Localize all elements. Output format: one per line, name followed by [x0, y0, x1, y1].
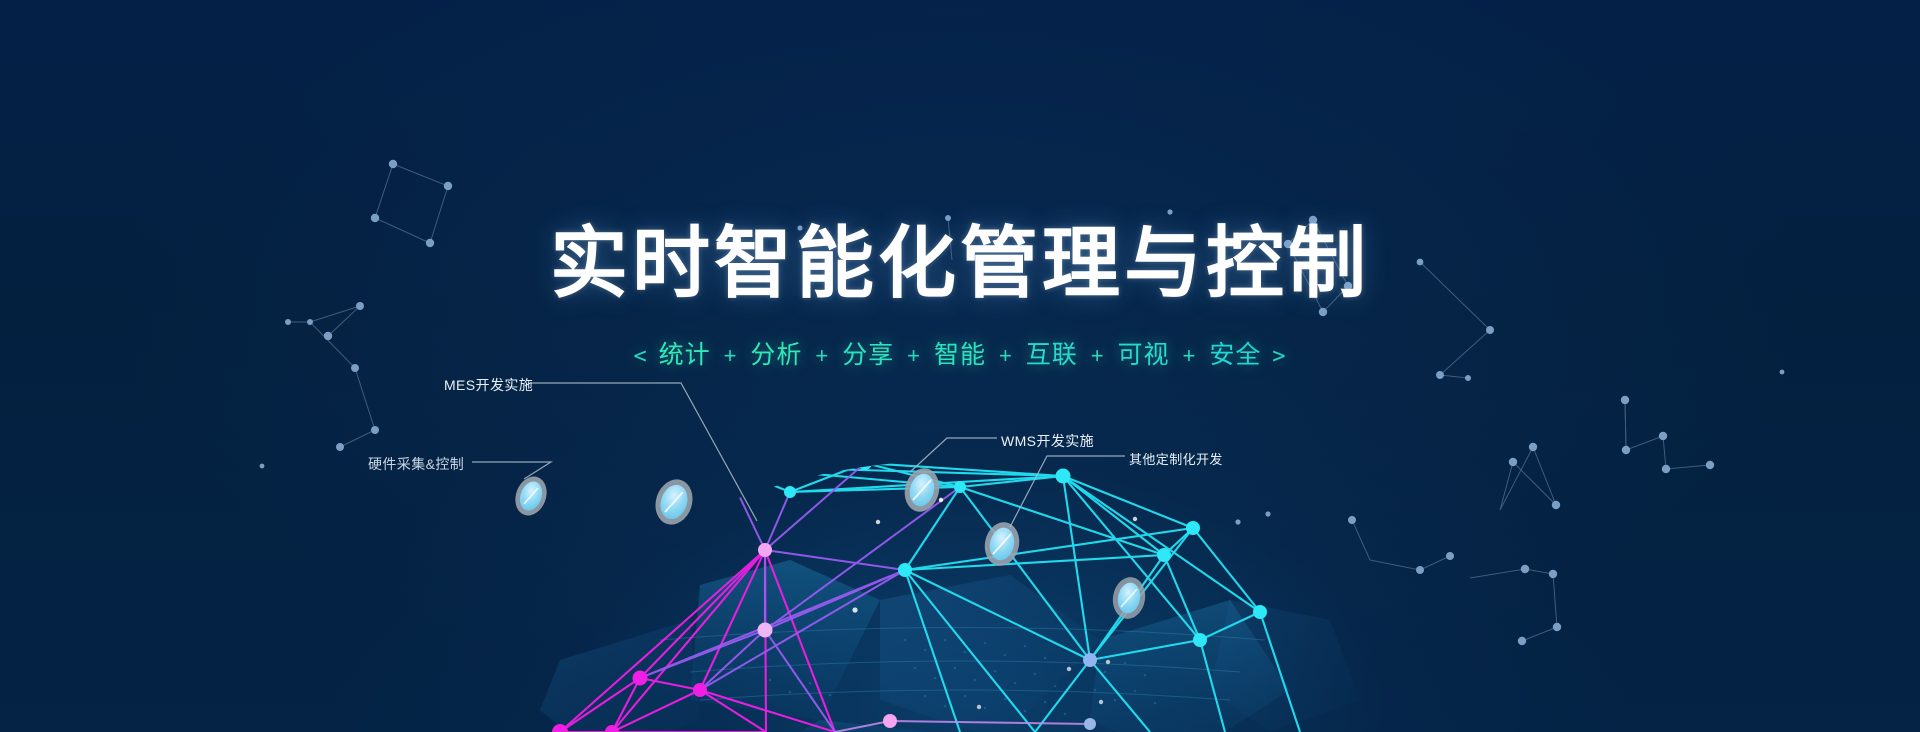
callout-label-wms: WMS开发实施 — [1001, 431, 1094, 451]
callout-label-hardware: 硬件采集&控制 — [368, 454, 464, 474]
callout-label-other: 其他定制化开发 — [1129, 449, 1223, 468]
hero-banner: 实时智能化管理与控制 < 统计 + 分析 + 分享 + 智能 + 互联 + 可视… — [0, 0, 1920, 732]
leader-line-hardware — [472, 462, 551, 479]
network-globe-graphic — [0, 0, 1920, 732]
callout-label-mes: MES开发实施 — [444, 375, 533, 395]
leader-line-mes — [531, 383, 757, 521]
